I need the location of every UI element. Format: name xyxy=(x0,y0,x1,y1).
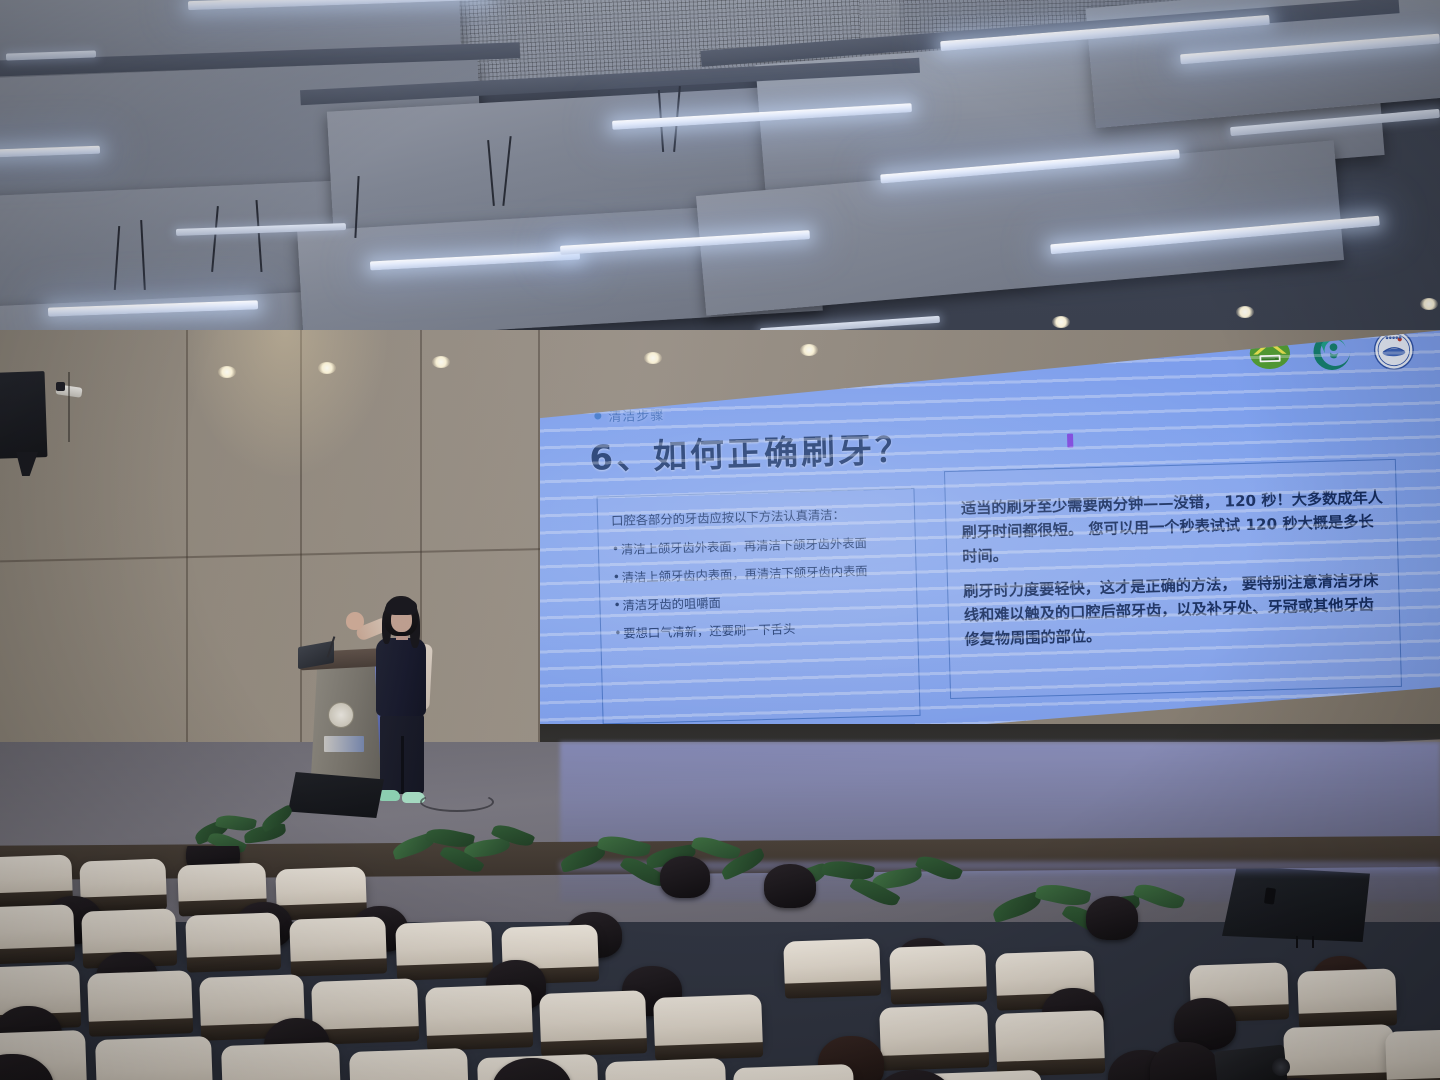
list-item: 要想口气清新，还要刷一下舌头 xyxy=(614,617,904,645)
presenter-hand xyxy=(346,612,364,630)
seat xyxy=(539,990,647,1046)
purple-cursor-mark xyxy=(1067,434,1073,448)
recessed-downlight xyxy=(432,356,450,368)
list-item: 清洁上颌牙齿内表面，再清洁下颌牙齿内表面 xyxy=(612,561,902,589)
bullet-dot-icon xyxy=(594,412,601,419)
wall-mounted-display xyxy=(0,371,47,459)
security-camera-lens-icon xyxy=(56,382,65,391)
recessed-downlight xyxy=(1236,306,1254,318)
seat xyxy=(221,1042,341,1080)
seat xyxy=(783,938,881,987)
recessed-downlight xyxy=(1420,298,1438,310)
audience-head xyxy=(1086,896,1138,940)
right-box-paragraph: 刷牙时力度要轻快，这才是正确的方法， 要特别注意清洁牙床线和难以触及的口腔后部牙… xyxy=(963,568,1389,651)
right-box-paragraph: 适当的刷牙至少需要两分钟——没错， 120 秒！大多数成年人刷牙时间都很短。 您… xyxy=(961,485,1387,568)
list-item: 清洁上颌牙齿外表面，再清洁下颌牙齿外表面 xyxy=(612,533,902,561)
seat xyxy=(87,970,193,1026)
blue-institutional-seal-logo: ●●●●● xyxy=(1372,330,1415,371)
right-box-content: 适当的刷牙至少需要两分钟——没错， 120 秒！大多数成年人刷牙时间都很短。 您… xyxy=(961,485,1389,663)
slide-content: 清洁步骤 6、如何正确刷牙？ xyxy=(540,330,1440,760)
green-house-logo xyxy=(1248,332,1291,375)
slide-kicker: 清洁步骤 xyxy=(594,405,665,426)
audience-head xyxy=(660,856,710,898)
led-screen-surface[interactable]: 清洁步骤 6、如何正确刷牙？ xyxy=(540,330,1440,760)
seat xyxy=(275,866,366,909)
seat xyxy=(79,859,166,902)
left-box-content: 口腔各部分的牙齿应按以下方法认真清洁： 清洁上颌牙齿外表面，再清洁下颌牙齿外表面… xyxy=(611,504,905,652)
teal-swoosh-person-logo xyxy=(1310,330,1353,373)
camera-lens-icon xyxy=(1272,1058,1290,1076)
seat xyxy=(995,1010,1105,1066)
seat xyxy=(177,862,266,905)
audience-head xyxy=(764,864,816,908)
seat xyxy=(1297,968,1397,1017)
seat xyxy=(425,984,533,1040)
seat xyxy=(733,1064,855,1080)
presenter-hair-fringe xyxy=(386,598,417,615)
recessed-downlight xyxy=(1052,316,1070,328)
seat xyxy=(185,912,281,961)
led-presentation-screen[interactable]: 清洁步骤 6、如何正确刷牙？ xyxy=(540,330,1440,775)
seat xyxy=(605,1058,727,1080)
svg-text:●●●●●: ●●●●● xyxy=(1385,335,1401,339)
presenter-vest xyxy=(376,638,426,716)
seat xyxy=(311,978,419,1034)
presenter-leg-gap xyxy=(401,736,404,794)
seat xyxy=(395,920,493,969)
seat xyxy=(879,1004,989,1060)
seat xyxy=(1385,1028,1440,1080)
recessed-downlight xyxy=(318,362,336,374)
camera-pole xyxy=(68,372,70,442)
seat xyxy=(0,855,73,898)
seat xyxy=(0,904,75,953)
seat xyxy=(349,1048,469,1080)
floor-cable xyxy=(420,792,494,812)
seat xyxy=(289,916,387,965)
left-box-bullet-list: 清洁上颌牙齿外表面，再清洁下颌牙齿外表面 清洁上颌牙齿内表面，再清洁下颌牙齿内表… xyxy=(612,533,905,644)
seat xyxy=(81,908,177,957)
slide-kicker-label: 清洁步骤 xyxy=(608,405,665,426)
seat xyxy=(95,1036,213,1080)
seat xyxy=(1283,1024,1395,1080)
list-item: 清洁牙齿的咀嚼面 xyxy=(613,589,903,617)
recessed-downlight xyxy=(218,366,236,378)
logo-row: ●●●●● xyxy=(1248,330,1415,375)
seat xyxy=(653,994,763,1050)
audience-seating-area xyxy=(0,846,1440,1080)
seat xyxy=(889,944,987,993)
auditorium-photo-scene: 清洁步骤 6、如何正确刷牙？ xyxy=(0,0,1440,1080)
